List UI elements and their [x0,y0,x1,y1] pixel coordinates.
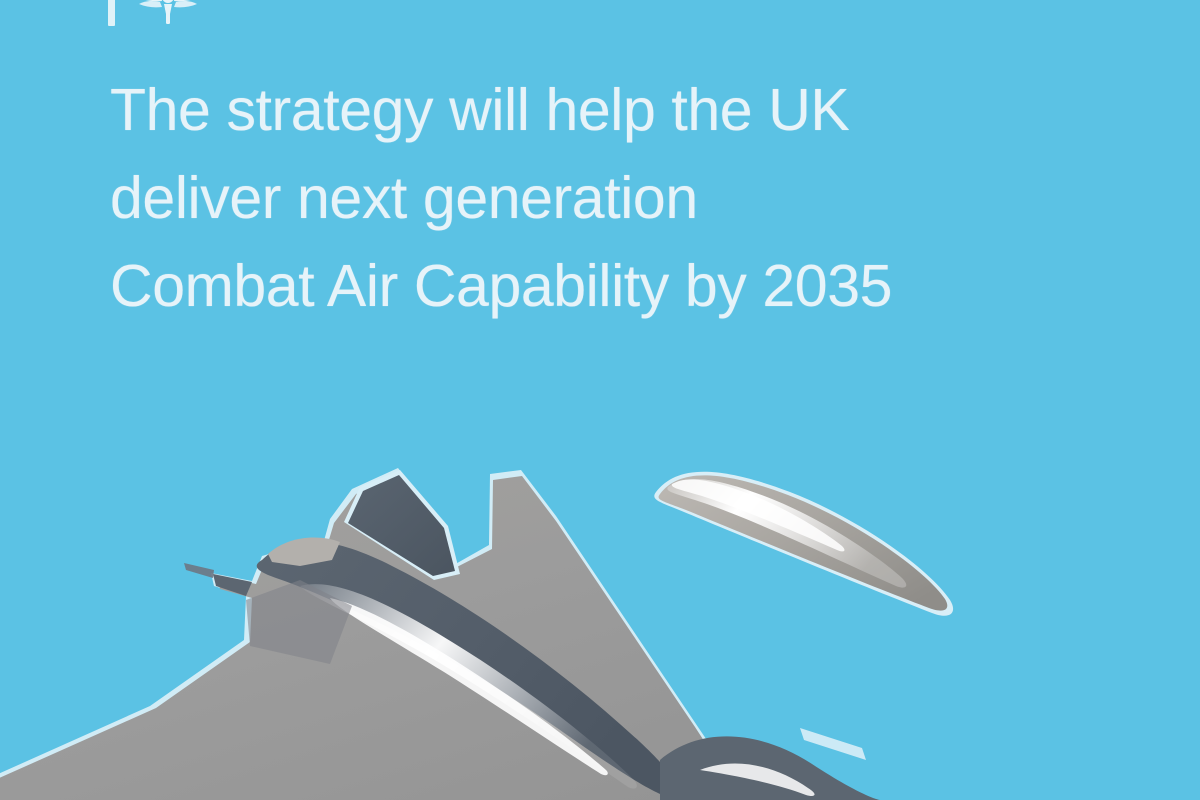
wingman-aircraft [654,472,953,616]
lead-fighter [0,468,880,800]
raf-winged-eagle-emblem [133,0,203,26]
headline-line-2: deliver next generation [110,154,1140,242]
video-frame: The strategy will help the UK deliver ne… [0,0,1200,800]
headline: The strategy will help the UK deliver ne… [110,66,1140,330]
nose-section [184,538,340,596]
engine-nacelle [660,728,880,800]
fuselage-spine [257,541,679,798]
vertical-tail-fin [344,470,460,580]
brand-rule-divider [108,0,115,26]
headline-line-1: The strategy will help the UK [110,66,1140,154]
headline-line-3: Combat Air Capability by 2035 [110,242,1140,330]
brand-lockup [108,0,348,26]
